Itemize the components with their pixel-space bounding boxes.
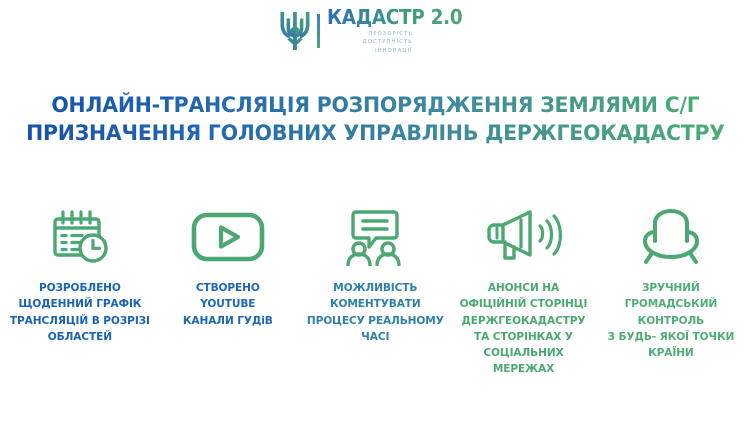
feature-item-comments: МОЖЛИВІСТЬ КОМЕНТУВАТИ ПРОЦЕСУ РЕАЛЬНОМУ… <box>302 206 450 345</box>
brand-logo: КАДАСТР 2.0 ПРОЗОРІСТЬ ДОСТУПНІСТЬ ІННОВ… <box>277 7 474 54</box>
calendar-clock-icon <box>49 206 111 268</box>
logo-title: КАДАСТР 2.0 <box>327 7 462 27</box>
feature-item-comfort: ЗРУЧНИЙ ГРОМАДСЬКИЙ КОНТРОЛЬ З БУДЬ- ЯКО… <box>597 206 745 361</box>
logo-bar: КАДАСТР 2.0 ПРОЗОРІСТЬ ДОСТУПНІСТЬ ІННОВ… <box>0 0 751 56</box>
page-title-line-1: ОНЛАЙН-ТРАНСЛЯЦІЯ РОЗПОРЯДЖЕННЯ ЗЕМЛЯМИ … <box>19 92 732 120</box>
armchair-icon <box>638 206 704 268</box>
logo-subtitle-line-2: ДОСТУПНІСТЬ <box>363 38 413 46</box>
youtube-play-icon <box>190 206 266 268</box>
feature-item-announcements: АНОНСИ НА ОФІЦІЙНІЙ СТОРІНЦІ ДЕРЖГЕОКАДА… <box>449 206 597 378</box>
logo-subtitle-line-1: ПРОЗОРІСТЬ <box>368 30 413 38</box>
feature-caption: РОЗРОБЛЕНО ЩОДЕННИЙ ГРАФІК ТРАНСЛЯЦІЙ В … <box>10 280 150 345</box>
page-title-line-2: ПРИЗНАЧЕННЯ ГОЛОВНИХ УПРАВЛІНЬ ДЕРЖГЕОКА… <box>19 120 732 148</box>
feature-list: РОЗРОБЛЕНО ЩОДЕННИЙ ГРАФІК ТРАНСЛЯЦІЙ В … <box>0 206 751 378</box>
logo-divider <box>317 14 320 48</box>
feature-caption: ЗРУЧНИЙ ГРОМАДСЬКИЙ КОНТРОЛЬ З БУДЬ- ЯКО… <box>600 280 742 361</box>
feature-caption: АНОНСИ НА ОФІЦІЙНІЙ СТОРІНЦІ ДЕРЖГЕОКАДА… <box>459 280 587 378</box>
logo-text: КАДАСТР 2.0 ПРОЗОРІСТЬ ДОСТУПНІСТЬ ІННОВ… <box>327 7 474 54</box>
logo-subtitle-line-3: ІННОВАЦІЇ <box>375 47 413 55</box>
feature-item-youtube: СТВОРЕНО YOUTUBE КАНАЛИ ГУДіВ <box>154 206 302 329</box>
feature-item-schedule: РОЗРОБЛЕНО ЩОДЕННИЙ ГРАФІК ТРАНСЛЯЦІЙ В … <box>6 206 154 345</box>
ukraine-trident-icon <box>277 9 313 53</box>
comment-people-icon <box>340 206 410 268</box>
megaphone-icon <box>483 206 563 268</box>
page-title: ОНЛАЙН-ТРАНСЛЯЦІЯ РОЗПОРЯДЖЕННЯ ЗЕМЛЯМИ … <box>0 92 751 149</box>
feature-caption: СТВОРЕНО YOUTUBE КАНАЛИ ГУДіВ <box>183 280 273 329</box>
feature-caption: МОЖЛИВІСТЬ КОМЕНТУВАТИ ПРОЦЕСУ РЕАЛЬНОМУ… <box>307 280 444 345</box>
logo-subtitle: ПРОЗОРІСТЬ ДОСТУПНІСТЬ ІННОВАЦІЇ <box>327 30 413 54</box>
